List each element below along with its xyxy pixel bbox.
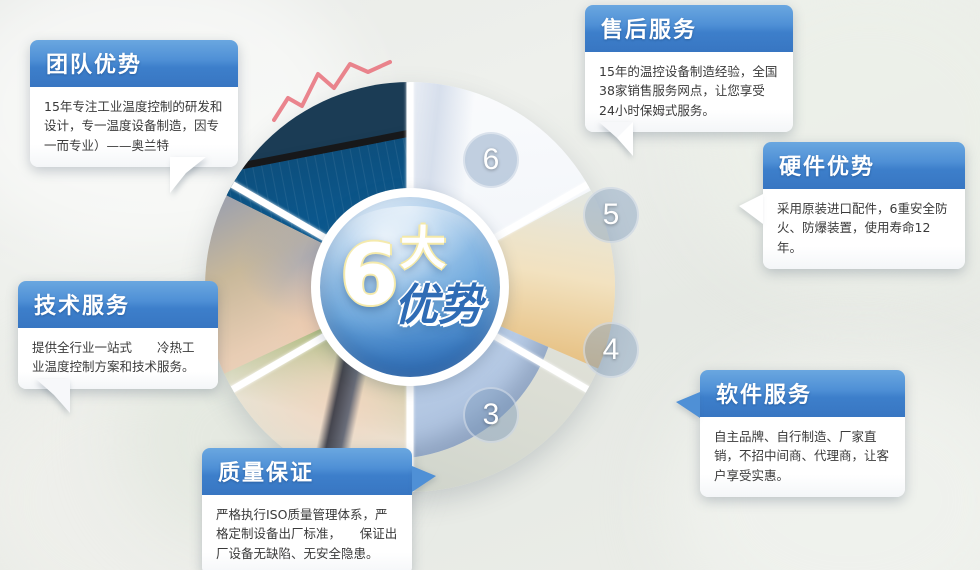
segment-badge-3[interactable]: 3 [463,387,519,443]
callout-header-technical: 技术服务 [18,281,218,328]
callout-tail [170,157,206,193]
hub-unit-label: 大 [400,225,446,271]
callout-software-service[interactable]: 软件服务 自主品牌、自行制造、厂家直销，不招中间商、代理商，让客户享受实惠。 [700,370,905,497]
callout-tail [36,379,70,413]
callout-body-after-sales: 15年的温控设备制造经验，全国38家销售服务网点，让您享受24小时保姆式服务。 [585,52,793,132]
hub-disc: 6 大 优势 [320,197,500,377]
segment-badge-5[interactable]: 5 [583,187,639,243]
callout-body-team: 15年专注工业温度控制的研发和设计，专一温度设备制造，因专一而专业）——奥兰特 [30,87,238,167]
callout-header-hardware: 硬件优势 [763,142,965,189]
segment-badge-6[interactable]: 6 [463,132,519,188]
callout-body-quality: 严格执行ISO质量管理体系，严格定制设备出厂标准， 保证出厂设备无缺陷、无安全隐… [202,495,412,570]
infographic-canvas: 1 6 5 4 3 2 6 大 优势 团队优势 15年专注工业温度控制的研发和设… [0,0,980,570]
hub-advantage-label: 优势 [394,283,482,329]
callout-header-after-sales: 售后服务 [585,5,793,52]
callout-tail [412,466,436,492]
callout-tail [599,122,633,156]
callout-tail [676,392,700,418]
callout-tail [739,194,763,224]
callout-header-team: 团队优势 [30,40,238,87]
callout-team-advantage[interactable]: 团队优势 15年专注工业温度控制的研发和设计，专一温度设备制造，因专一而专业）—… [30,40,238,167]
callout-header-quality: 质量保证 [202,448,412,495]
advantages-wheel: 1 6 5 4 3 2 6 大 优势 [205,82,615,492]
hub-number: 6 [340,233,398,317]
callout-technical-service[interactable]: 技术服务 提供全行业一站式 冷热工业温度控制方案和技术服务。 [18,281,218,389]
segment-badge-4[interactable]: 4 [583,322,639,378]
callout-quality-assurance[interactable]: 质量保证 严格执行ISO质量管理体系，严格定制设备出厂标准， 保证出厂设备无缺陷… [202,448,412,570]
wheel-hub: 6 大 优势 [311,188,509,386]
callout-body-software: 自主品牌、自行制造、厂家直销，不招中间商、代理商，让客户享受实惠。 [700,417,905,497]
callout-body-hardware: 采用原装进口配件，6重安全防火、防爆装置，使用寿命12年。 [763,189,965,269]
callout-after-sales-service[interactable]: 售后服务 15年的温控设备制造经验，全国38家销售服务网点，让您享受24小时保姆… [585,5,793,132]
callout-header-software: 软件服务 [700,370,905,417]
callout-hardware-advantage[interactable]: 硬件优势 采用原装进口配件，6重安全防火、防爆装置，使用寿命12年。 [763,142,965,269]
